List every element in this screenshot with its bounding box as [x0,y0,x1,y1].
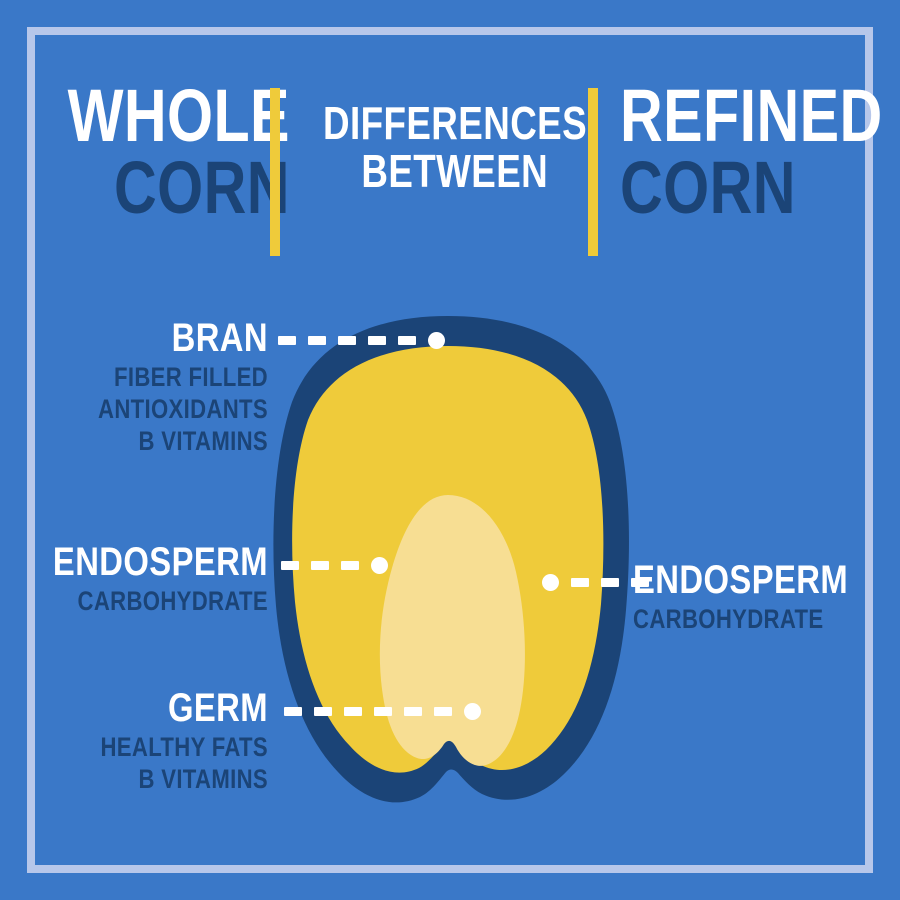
header-left-group: WHOLE CORN [60,82,290,222]
leader-dash-icon [338,336,356,345]
header-whole-corn-text: CORN [114,154,290,222]
callout-endosperm-left-sub-line1: CARBOHYDRATE [48,586,268,618]
infographic-canvas: WHOLE CORN DIFFERENCES BETWEEN REFINED C… [0,0,900,900]
callout-bran-sub-line2: ANTIOXIDANTS [48,394,268,426]
leader-dash-icon [314,707,332,716]
callout-endosperm-left: ENDOSPERM CARBOHYDRATE [0,542,268,618]
callout-endosperm-left-sub: CARBOHYDRATE [48,586,268,618]
leader-endpoint-dot-icon [542,574,559,591]
leader-dash-icon [341,561,359,570]
leader-dash-icon [571,578,589,587]
header-divider-right-icon [588,88,598,256]
leader-dash-icon [368,336,386,345]
callout-bran-sub: FIBER FILLED ANTIOXIDANTS B VITAMINS [48,362,268,458]
leader-dash-icon [278,336,296,345]
header-refined-text: REFINED [620,82,883,150]
leader-line-bran [278,336,445,345]
callout-endosperm-right-title: ENDOSPERM [633,560,838,600]
callout-germ-sub: HEALTHY FATS B VITAMINS [48,732,268,796]
callout-germ-sub-line2: B VITAMINS [48,764,268,796]
header-refined-corn-text: CORN [620,154,796,222]
callout-endosperm-right-sub: CARBOHYDRATE [633,604,838,636]
callout-bran: BRAN FIBER FILLED ANTIOXIDANTS B VITAMIN… [0,318,268,458]
leader-line-endosperm-left [281,561,388,570]
leader-line-germ [284,707,481,716]
leader-dash-icon [344,707,362,716]
header-between-text: BETWEEN [362,150,549,192]
callout-endosperm-right: ENDOSPERM CARBOHYDRATE [633,560,883,636]
leader-endpoint-dot-icon [428,332,445,349]
leader-endpoint-dot-icon [464,703,481,720]
callout-germ-sub-line1: HEALTHY FATS [48,732,268,764]
callout-bran-sub-line1: FIBER FILLED [48,362,268,394]
leader-dash-icon [404,707,422,716]
leader-dash-icon [308,336,326,345]
callout-bran-sub-line3: B VITAMINS [48,426,268,458]
callout-bran-title: BRAN [48,318,268,358]
header-middle-group: DIFFERENCES BETWEEN [330,82,580,193]
header-right-group: REFINED CORN [620,82,850,222]
leader-dash-icon [601,578,619,587]
header-divider-left-icon [270,88,280,256]
leader-endpoint-dot-icon [371,557,388,574]
leader-dash-icon [281,561,299,570]
leader-dash-icon [398,336,416,345]
leader-dash-icon [374,707,392,716]
leader-dash-icon [434,707,452,716]
callout-endosperm-left-title: ENDOSPERM [48,542,268,582]
leader-dash-icon [311,561,329,570]
header-differences-text: DIFFERENCES [323,102,587,144]
header-whole-text: WHOLE [68,82,290,150]
leader-dash-icon [284,707,302,716]
callout-germ: GERM HEALTHY FATS B VITAMINS [0,688,268,796]
callout-germ-title: GERM [48,688,268,728]
header: WHOLE CORN DIFFERENCES BETWEEN REFINED C… [60,82,850,267]
callout-endosperm-right-sub-line1: CARBOHYDRATE [633,604,838,636]
